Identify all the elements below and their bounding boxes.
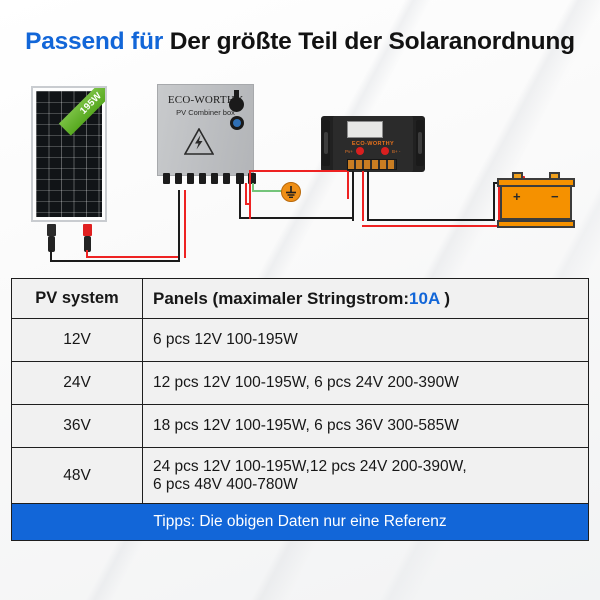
row-system-voltage: 48V <box>12 448 143 504</box>
charge-controller: ECO-WORTHY Pv+ B+ - <box>321 116 425 172</box>
controller-terminal-strip <box>347 159 397 170</box>
controller-bat-neg-wire <box>367 171 369 221</box>
controller-pv-pos-wire <box>347 171 349 199</box>
table-row: 12V 6 pcs 12V 100-195W <box>12 319 589 362</box>
row-system-voltage: 36V <box>12 405 143 448</box>
table-row: 36V 18 pcs 12V 100-195W, 6 pcs 36V 300-5… <box>12 405 589 448</box>
combiner-switch-knob[interactable] <box>229 97 244 112</box>
combiner-terminal <box>223 173 230 184</box>
wiring-diagram: 195W ECO-WORTHY PV Combiner box <box>0 72 600 267</box>
header-panels: Panels (maximaler Stringstrom:10A ) <box>143 279 589 319</box>
row-panels-line1: 24 pcs 12V 100-195W,12 pcs 24V 200-390W, <box>153 458 578 476</box>
pv-pos-drop-wire <box>249 203 251 219</box>
compatibility-table: PV system Panels (maximaler Stringstrom:… <box>11 278 589 541</box>
row-system-voltage: 12V <box>12 319 143 362</box>
controller-lcd-display <box>347 121 383 138</box>
controller-battery-label: B+ - <box>392 149 400 154</box>
controller-led-pv[interactable] <box>356 147 364 155</box>
pv-pos-riser-wire <box>249 170 251 204</box>
high-voltage-warning-icon <box>184 128 214 154</box>
title-rest: Der größte Teil der Solaranordnung <box>170 28 575 55</box>
controller-brand: ECO-WORTHY <box>321 141 425 147</box>
header-panels-prefix: Panels (maximaler Stringstrom: <box>153 289 409 308</box>
battery-base <box>497 220 575 228</box>
combiner-out-neg-wire <box>239 183 241 219</box>
table-row: 24V 12 pcs 12V 100-195W, 6 pcs 24V 200-3… <box>12 362 589 405</box>
combiner-terminal <box>175 173 182 184</box>
solar-panel: 195W <box>31 86 107 222</box>
panel-positive-connector <box>83 224 92 236</box>
panel-pos-wire-h <box>86 256 180 258</box>
pv-neg-bus-wire <box>239 217 353 219</box>
controller-pv-neg-wire <box>352 171 354 221</box>
combiner-terminal <box>163 173 170 184</box>
title-highlight: Passend für <box>25 28 163 55</box>
table-header-row: PV system Panels (maximaler Stringstrom:… <box>12 279 589 319</box>
header-max-string-current: 10A <box>409 289 440 308</box>
header-pv-system: PV system <box>12 279 143 319</box>
panel-negative-connector <box>47 224 56 236</box>
combiner-terminal <box>211 173 218 184</box>
battery-positive-sign: + <box>513 189 521 204</box>
combiner-terminal <box>199 173 206 184</box>
controller-bat-pos-wire <box>362 171 364 221</box>
battery-neg-wire-v <box>493 182 495 220</box>
earth-ground-icon <box>281 182 301 202</box>
battery: + − <box>497 172 575 228</box>
combiner-indicator <box>230 116 244 130</box>
table-row: 48V 24 pcs 12V 100-195W,12 pcs 24V 200-3… <box>12 448 589 504</box>
pv-combiner-box: ECO-WORTHY PV Combiner box <box>157 84 254 176</box>
battery-lid <box>497 178 575 187</box>
row-panels: 12 pcs 12V 100-195W, 6 pcs 24V 200-390W <box>143 362 589 405</box>
pv-pos-top-wire <box>249 170 347 172</box>
battery-pos-wire-h <box>362 225 500 227</box>
controller-led-battery[interactable] <box>381 147 389 155</box>
battery-negative-sign: − <box>551 189 559 204</box>
page-title: Passend für Der größte Teil der Solarano… <box>0 28 600 56</box>
row-system-voltage: 24V <box>12 362 143 405</box>
combiner-out-pos-wire <box>245 183 247 205</box>
combiner-in-neg-wire <box>178 190 180 262</box>
table-tip: Tipps: Die obigen Daten nur eine Referen… <box>12 504 589 541</box>
table-tip-row: Tipps: Die obigen Daten nur eine Referen… <box>12 504 589 541</box>
row-panels: 6 pcs 12V 100-195W <box>143 319 589 362</box>
combiner-terminal <box>187 173 194 184</box>
row-panels: 24 pcs 12V 100-195W,12 pcs 24V 200-390W,… <box>143 448 589 504</box>
ground-wire-h <box>252 190 282 192</box>
row-panels-line2: 6 pcs 48V 400-780W <box>153 476 578 494</box>
header-panels-suffix: ) <box>440 289 450 308</box>
panel-neg-wire-h <box>50 260 180 262</box>
combiner-in-pos-wire <box>184 190 186 258</box>
row-panels: 18 pcs 12V 100-195W, 6 pcs 36V 300-585W <box>143 405 589 448</box>
battery-neg-wire-h <box>367 219 495 221</box>
controller-pv-label: Pv+ <box>345 149 353 154</box>
